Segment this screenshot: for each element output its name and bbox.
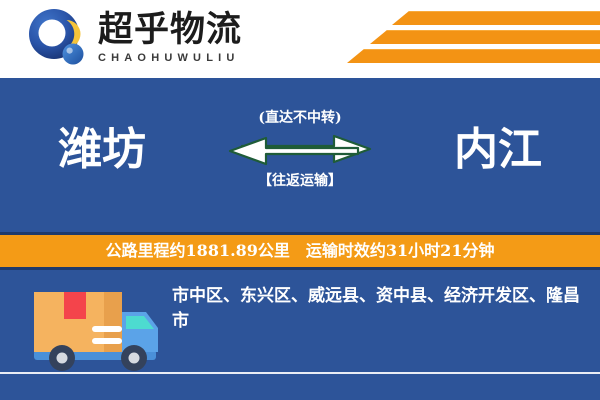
origin-city-name: 潍坊 xyxy=(58,128,146,172)
route-info-bar: 公路里程约1881.89公里 运输时效约31小时21分钟 xyxy=(0,232,600,270)
info-bar-background: 公路里程约1881.89公里 运输时效约31小时21分钟 xyxy=(0,235,600,267)
destination-city-name: 内江 xyxy=(454,128,542,172)
brand-wordmark: 超乎物流 CHAOHUWULIU xyxy=(98,12,242,64)
banner-header: 超乎物流 CHAOHUWULIU xyxy=(0,0,600,78)
circle-q-logo-icon xyxy=(26,7,88,69)
double-headed-arrow-icon xyxy=(224,130,376,168)
direct-service-note: (直达不中转) xyxy=(205,111,395,125)
coverage-area-list: 市中区、东兴区、威远县、资中县、经济开发区、隆昌市 xyxy=(172,284,582,333)
brand-name-cn: 超乎物流 xyxy=(98,12,242,49)
coverage-area-section: 市中区、东兴区、威远县、资中县、经济开发区、隆昌市 xyxy=(0,270,600,400)
bottom-divider xyxy=(0,372,600,374)
logistics-route-banner: 超乎物流 CHAOHUWULIU 潍坊 (直达不中转) 【往返运输】 内江 公路… xyxy=(0,0,600,400)
brand-logo-group[interactable]: 超乎物流 CHAOHUWULIU xyxy=(26,7,242,69)
orange-speed-stripe-3 xyxy=(347,49,600,63)
orange-speed-stripe-2 xyxy=(370,30,600,44)
round-trip-note: 【往返运输】 xyxy=(205,174,395,188)
delivery-truck-icon xyxy=(30,282,164,378)
distance-and-duration-text: 公路里程约1881.89公里 运输时效约31小时21分钟 xyxy=(106,243,495,259)
route-panel: 潍坊 (直达不中转) 【往返运输】 内江 xyxy=(0,78,600,232)
brand-name-en: CHAOHUWULIU xyxy=(98,52,242,64)
route-middle-group: (直达不中转) 【往返运输】 xyxy=(205,111,395,188)
orange-speed-stripe-1 xyxy=(392,11,600,25)
